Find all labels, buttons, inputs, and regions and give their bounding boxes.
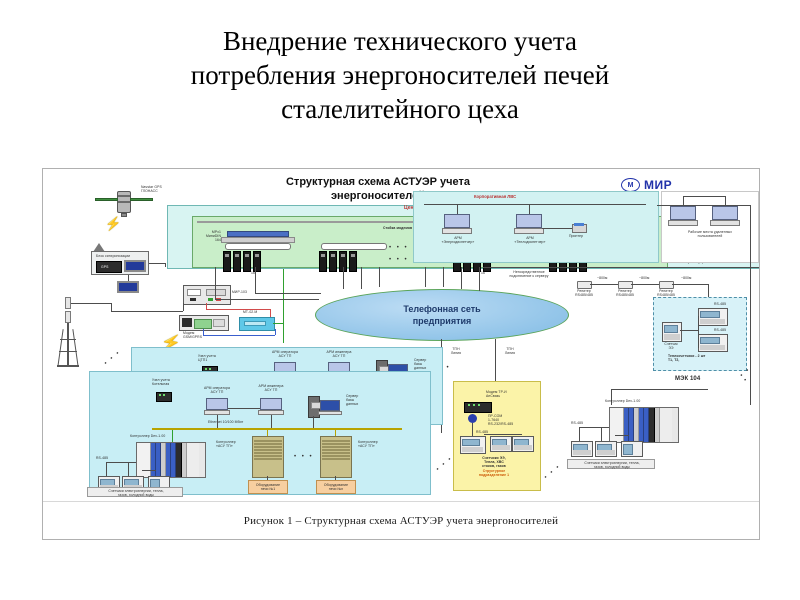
mir103-device bbox=[183, 285, 231, 305]
ethernet-bus-label: Ethernet 10/100 Мбит bbox=[208, 420, 243, 424]
remote-users-zone: Рабочие места удаленных пользователей bbox=[661, 191, 759, 263]
electricity-meter-line-2: ЭЭ bbox=[668, 346, 673, 350]
satellite-label: Navstar GPS ГЛОНАСС bbox=[141, 185, 191, 193]
arm-energodispatcher-monitor bbox=[444, 214, 470, 234]
sub-n-line-1: Счетчики ЭЭ, bbox=[540, 428, 564, 432]
remote-monitor-2 bbox=[712, 206, 738, 226]
subdivision-dots: • • • bbox=[543, 463, 562, 480]
diagram-title-line-1: Структурная схема АСТУЭР учета bbox=[228, 175, 528, 189]
subdivision-1-zone: Модем ТР-И АнСвязь ПР-СОМ 1-7640 RS-232/… bbox=[453, 381, 541, 491]
furnace-equipment-1-label: Оборудование печи №1 bbox=[248, 480, 288, 494]
sub-n-line-3: стоков, газов bbox=[540, 436, 564, 440]
secondary-display bbox=[117, 281, 139, 293]
remote-users-line-2: пользователей bbox=[698, 234, 723, 238]
furnace-cabinet-1 bbox=[252, 436, 284, 478]
furnace-equipment-n-label: Оборудование печи №n bbox=[316, 480, 356, 494]
mt02m-label: МТ-02.М bbox=[243, 310, 257, 314]
sub-modem-line-2: АнСвязь bbox=[486, 394, 500, 398]
boiler-node-line-2: Котельная bbox=[152, 382, 169, 386]
rack-ellipsis-2: • • • bbox=[389, 257, 409, 263]
gsm-modem-device bbox=[179, 315, 229, 331]
repeater-span-1: ~800м bbox=[597, 276, 607, 280]
subdivision-modem-label: Модем ТР-И АнСвязь bbox=[486, 390, 522, 398]
subdivision-meter-3 bbox=[512, 436, 534, 452]
boiler-zone-dots: • • • bbox=[435, 455, 454, 472]
mir-logo-text: МИР bbox=[644, 178, 672, 192]
gsm-modem-label-line-2: GSM/GPRS bbox=[183, 335, 202, 339]
radio-dots: • • • bbox=[103, 349, 122, 366]
sub-n-line-4: Структурное bbox=[540, 441, 562, 445]
boiler-controller-asu-1-label: Контроллер «АСУ ТП» bbox=[216, 440, 252, 448]
satellite-label-line-2: ГЛОНАСС bbox=[141, 189, 158, 193]
boiler-db-server-label: Сервер базы данных bbox=[346, 394, 372, 407]
repeater-2 bbox=[618, 281, 633, 289]
modem-rack-1-label: МРx1 МиниDIN 164 bbox=[199, 230, 221, 243]
boiler-plc-controller bbox=[136, 442, 206, 478]
structural-diagram: Структурная схема АСТУЭР учета энергонос… bbox=[43, 169, 759, 502]
mir-logo: М МИР bbox=[621, 178, 672, 192]
arm2-line-2: «Теплодиспетчер» bbox=[514, 240, 545, 244]
subdivision-converter-label: ПР-СОМ 1-7640 RS-232/RS-485 bbox=[488, 414, 522, 427]
arm-teplodispatcher-monitor bbox=[516, 214, 542, 234]
phone-network-line-1: Телефонная сеть bbox=[403, 304, 480, 314]
heat-meters-caption: Теплосчетчики - 2 шт Т1, Т2, bbox=[668, 354, 738, 362]
boiler-node-zone: Узел учета Котельная АРМ оператора АСУ Т… bbox=[89, 371, 431, 495]
page-title: Внедрение технического учета потребления… bbox=[0, 24, 800, 126]
boiler-rs485-label: RS-485 bbox=[96, 456, 108, 460]
sub-n-line-2: Тепла, ХВС bbox=[540, 432, 560, 436]
iec-controller-label: Контроллер Dev-1.00 bbox=[605, 399, 640, 403]
boiler-modem bbox=[156, 392, 172, 402]
subdivision-modem-tr bbox=[464, 402, 492, 413]
heat-meters-zone: RS-485 RS-485 Счетчик ЭЭ Теплосчетчики -… bbox=[653, 297, 747, 371]
sub-n-conv-line-2: 1-7640 bbox=[546, 390, 557, 394]
direct-connection-label: Непосредственное подключение к серверу bbox=[489, 270, 569, 278]
subdivision-n-converter-label: ПР-СОМ 1-7640 232/RS-485 bbox=[546, 386, 582, 399]
boiler-controller-label: Контроллер Dev-1.00 bbox=[130, 434, 165, 438]
subdivision-meter-2 bbox=[490, 436, 512, 452]
corporate-lan-zone: Корпоративная ЛВС АРМ «Энергодиспетчер» … bbox=[413, 191, 659, 263]
iec104-protocol-label: МЭК 104 bbox=[675, 377, 700, 381]
boiler-db-line-3: данных bbox=[346, 402, 358, 406]
gps-module-label: GPS bbox=[101, 265, 108, 269]
tpn-left-label: ТПН Линия bbox=[447, 347, 465, 355]
iec-counters-caption: Счетчики электроэнергии, тепла, газов, х… bbox=[567, 459, 655, 469]
boiler-arm-operator-monitor bbox=[206, 398, 228, 415]
sub-n-line-5: подразделение n bbox=[540, 445, 570, 449]
modem-rack-title: Стойка модемов bbox=[383, 226, 412, 230]
heat-meters-caption-line-2: Т1, Т2, bbox=[668, 358, 679, 362]
boiler-arm-engineer-label: АРМ инженера АСУ ТП bbox=[250, 384, 292, 392]
electricity-meter-label: Счетчик ЭЭ bbox=[658, 342, 684, 350]
figure-frame: Структурная схема АСТУЭР учета энергонос… bbox=[42, 168, 760, 540]
remote-monitor-1 bbox=[670, 206, 696, 226]
tpn-left-line-2: Линия bbox=[451, 351, 461, 355]
boiler-db-server-monitor bbox=[320, 400, 340, 415]
subdivision-n-meter-1 bbox=[540, 410, 562, 426]
repeater-1-line-2: RS485/485 bbox=[575, 293, 593, 297]
sync-display bbox=[124, 260, 146, 272]
subdivision-counters-label: Счетчики ЭЭ, Тепла, ХВС стоков, газов Ст… bbox=[460, 456, 528, 477]
tpn-right-label: ТПН Линия bbox=[501, 347, 519, 355]
ctp-arm-operator-label: АРМ оператора АСУ ТП bbox=[264, 350, 306, 358]
arm-energodispatcher-label: АРМ «Энергодиспетчер» bbox=[436, 236, 480, 244]
sync-block: Блок синхронизации GPS bbox=[91, 251, 149, 275]
boiler-controller-asu-n-label: Контроллер «АСУ ТП» bbox=[358, 440, 392, 448]
lightning-icon-satellite: ⚡ bbox=[105, 217, 121, 230]
heat-meter-2 bbox=[698, 334, 728, 352]
iec-meter-3 bbox=[621, 441, 643, 457]
boiler-arm-operator-label: АРМ оператора АСУ ТП bbox=[196, 386, 238, 394]
boiler-arm-op-line-2: АСУ ТП bbox=[211, 390, 224, 394]
iec-meter-2 bbox=[595, 441, 617, 457]
ctp-arm-eng-line-2: АСУ ТП bbox=[333, 354, 346, 358]
repeater-1-label: Репитер RS485/485 bbox=[571, 289, 597, 297]
repeater-1 bbox=[577, 281, 592, 289]
repeater-3 bbox=[659, 281, 674, 289]
iec-rs485-label: RS-485 bbox=[571, 421, 583, 425]
heat-meter-1 bbox=[698, 308, 728, 326]
sub-n-conv-line-1: ПР-СОМ bbox=[546, 386, 560, 390]
mir103-label: МИР-103 bbox=[232, 290, 247, 294]
ctp-db-server-label: Сервер базы данных bbox=[414, 358, 440, 371]
modem-rack-3-count: 16 bbox=[481, 271, 485, 275]
boiler-arm-eng-line-2: АСУ ТП bbox=[265, 388, 278, 392]
cab2-line-2: печи №n bbox=[329, 487, 343, 491]
subdivision-n-modem-label: Модем ТР-И АнСвязь bbox=[544, 368, 580, 376]
mt02m-modem bbox=[239, 317, 275, 331]
subdivision-connector bbox=[468, 414, 477, 423]
page-title-line-2: потребления энергоносителей печей bbox=[0, 58, 800, 92]
boiler-arm-engineer-monitor bbox=[260, 398, 282, 415]
ctrl-asun-line-2: «АСУ ТП» bbox=[358, 444, 375, 448]
direct-connection-line-2: подключение к серверу bbox=[509, 274, 548, 278]
boiler-node-label: Узел учета Котельная bbox=[152, 378, 194, 386]
figure-caption: Рисунок 1 – Структурная схема АСТУЭР уче… bbox=[43, 502, 759, 539]
arm-teplodispatcher-label: АРМ «Теплодиспетчер» bbox=[508, 236, 552, 244]
boiler-counters-caption: Счетчики электроэнергии, тепла, газов, х… bbox=[87, 487, 183, 497]
phone-network-line-2: предприятия bbox=[413, 316, 472, 326]
iec-meter-1 bbox=[571, 441, 593, 457]
sub-title-line-2: подразделение 1 bbox=[479, 473, 509, 477]
sub-n-conv-line-3: 232/RS-485 bbox=[546, 394, 565, 398]
gps-module: GPS bbox=[96, 261, 122, 273]
iec-cap-line-2: газов, холодной воды bbox=[594, 465, 630, 469]
boiler-cap-line-2: газов, холодной воды bbox=[118, 493, 154, 497]
page-title-line-1: Внедрение технического учета bbox=[0, 24, 800, 58]
sub-n-modem-line-2: АнСвязь bbox=[544, 372, 558, 376]
ctrl-asu1-line-2: «АСУ ТП» bbox=[216, 444, 233, 448]
sub-n-modem-line-1: Модем ТР-И bbox=[544, 368, 565, 372]
repeater-2-label: Репитер RS485/485 bbox=[612, 289, 638, 297]
electricity-meter bbox=[662, 322, 682, 342]
ctp-arm-op-line-2: АСУ ТП bbox=[279, 354, 292, 358]
cabinet-ellipsis: • • • bbox=[294, 454, 314, 460]
modem-rack-1-label-line-2: МиниDIN 164 bbox=[206, 234, 221, 242]
enterprise-phone-network: Телефонная сеть предприятия bbox=[315, 289, 569, 341]
heat-meter-2-iface: RS-485 bbox=[714, 328, 726, 332]
printer-label: Принтер bbox=[569, 234, 583, 238]
repeater-2-line-2: RS485/485 bbox=[616, 293, 634, 297]
rack-ellipsis-1: • • • bbox=[389, 245, 409, 251]
sync-block-title: Блок синхронизации bbox=[96, 254, 130, 258]
ctp-node-line-2: ЦТП1 bbox=[198, 358, 207, 362]
iec-plc-controller bbox=[609, 407, 679, 443]
tpn-right-line-2: Линия bbox=[505, 351, 515, 355]
ctp-node-label: Узел учета ЦТП1 bbox=[198, 354, 236, 362]
ctp-arm-engineer-label: АРМ инженера АСУ ТП bbox=[318, 350, 360, 358]
corporate-lan-title: Корпоративная ЛВС bbox=[474, 194, 516, 199]
arm1-line-2: «Энергодиспетчер» bbox=[442, 240, 475, 244]
sub-conv-line-3: RS-232/RS-485 bbox=[488, 422, 513, 426]
page-title-line-3: сталелитейного цеха bbox=[0, 92, 800, 126]
furnace-cabinet-n bbox=[320, 436, 352, 478]
ctp-db-line-3: данных bbox=[414, 366, 426, 370]
repeater-span-3: ~800м bbox=[681, 276, 691, 280]
subdivision-meter-main bbox=[460, 436, 486, 454]
cab1-line-2: печи №1 bbox=[261, 487, 275, 491]
remote-users-label: Рабочие места удаленных пользователей bbox=[668, 230, 752, 238]
heat-meter-1-iface: RS-485 bbox=[714, 302, 726, 306]
mir-logo-mark: М bbox=[621, 178, 640, 192]
printer-icon bbox=[572, 224, 587, 233]
repeater-span-2: ~800м bbox=[639, 276, 649, 280]
